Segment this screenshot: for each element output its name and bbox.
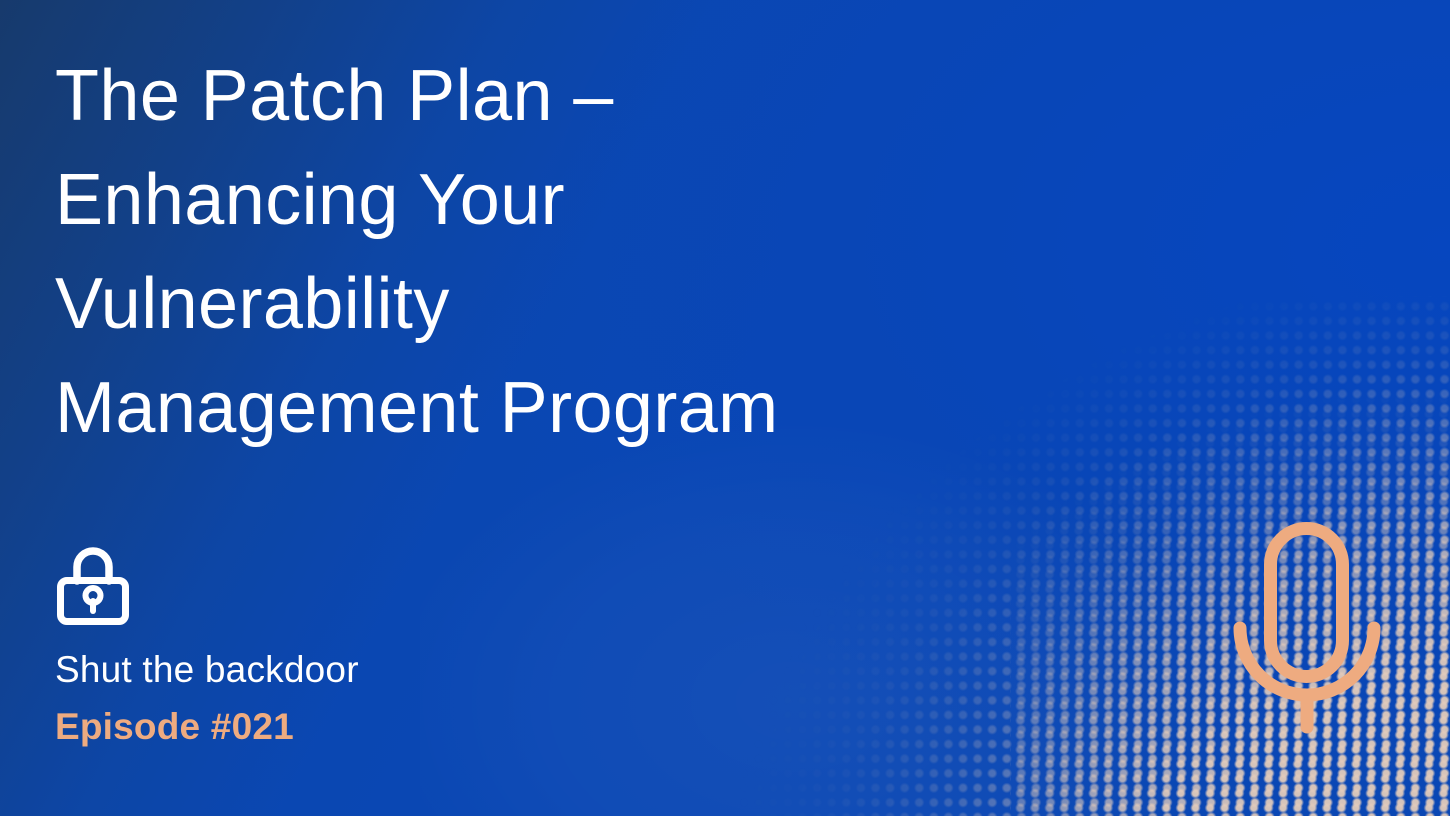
microphone-icon bbox=[1228, 514, 1386, 740]
episode-number-label: Episode #021 bbox=[55, 704, 695, 750]
show-branding: Shut the backdoor Episode #021 bbox=[55, 543, 695, 750]
podcast-episode-cover: The Patch Plan – Enhancing Your Vulnerab… bbox=[0, 0, 1450, 816]
show-name: Shut the backdoor bbox=[55, 647, 695, 693]
episode-title: The Patch Plan – Enhancing Your Vulnerab… bbox=[55, 44, 975, 460]
lock-icon bbox=[55, 543, 131, 625]
